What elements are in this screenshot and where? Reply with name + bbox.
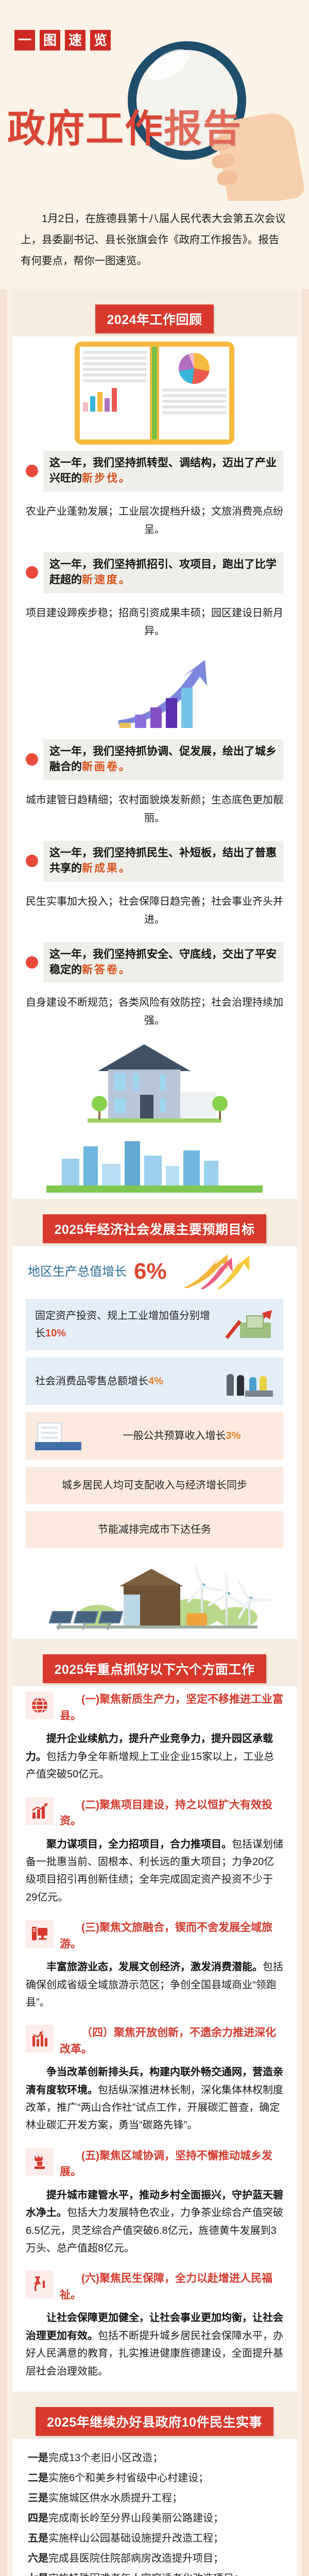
pin-icon [26,2270,54,2298]
target-row: 固定资产投资、规上工业增加值分别增长10% [26,1299,283,1350]
review-highlight-emphasis: 新步伐。 [82,472,131,484]
book-illustration [12,336,297,448]
list-item: 五是实施梓山公园基础设施提升改造工程； [28,2529,281,2549]
key-task-title: (五)聚焦区域协调，坚持不懈推动城乡发展。 [60,2148,283,2180]
review-detail: 农业产业蓬勃发展；工业层次提档升级；文旅消费亮点纷呈。 [12,492,297,549]
key-task-body: 聚力谋项目，全力招项目，合力推项目。包括谋划储备一批惠当前、固根本、利长远的重大… [26,1829,283,1914]
hero-title-glass: 报告 [164,107,242,150]
list-item: 三是实施城区供水水质提升工程； [28,2488,281,2509]
review-highlight: 这一年，我们坚持抓招引、攻项目，跑出了比学赶超的新速度。 [43,552,283,593]
livelihood-no: 三是 [28,2493,48,2504]
review-highlight-emphasis: 新速度。 [82,574,131,586]
shoppers-icon [225,1366,274,1397]
bullet-dot-icon [26,956,38,969]
growth-arrow-illustration [12,651,297,736]
review-item: 这一年，我们坚持抓民生、补短板，结出了普惠共享的新成果。 [12,838,297,882]
livelihood-no: 一是 [28,2452,48,2464]
key-task: （四）聚焦开放创新，不遗余力推进深化改革。 争当改革创新排头兵，构建内联外畅交通… [12,2020,297,2143]
livelihood-no: 二是 [28,2472,48,2484]
chess-piece-icon [26,2148,54,2176]
livelihood-text: 实施城区供水水质提升工程； [48,2493,182,2504]
key-task-body: 提升企业续航力，提升产业竞争力，提升园区承载力。包括力争全年新增规上工业企业15… [26,1724,283,1790]
key-task-body-bold: 丰富旅游业态，发展文创经济，激发消费潜能。 [46,1961,263,1973]
section-title-key-tasks: 2025年重点抓好以下六个方面工作 [43,1654,266,1683]
badge-4: 览 [90,30,111,50]
target-row-number: 3% [226,1430,241,1442]
bullet-dot-icon [26,753,38,766]
section-title-review: 2024年工作回顾 [95,304,213,333]
target-gdp: 地区生产总值增长 6% [12,1246,297,1292]
key-task-title: (六)聚焦民生保障，全力以赴增进人民福祉。 [60,2270,283,2303]
money-growth-icon [225,1309,274,1340]
hero-title-plain: 政府工作 [7,107,164,150]
livelihood-text: 完成南长岭至分界山段美丽公路建设； [48,2513,224,2524]
livelihood-text: 实施6个和美乡村省级中心村建设； [48,2472,209,2484]
key-task-body: 丰富旅游业态，发展文创经济，激发消费潜能。包括确保创成省级全域旅游示范区；争创全… [26,1952,283,2019]
bar-chart-icon [26,1797,54,1825]
target-gdp-label: 地区生产总值增长 [28,1264,127,1280]
key-task-body: 让社会保障更加健全，让社会事业更加均衡，让社会治理更加有效。包括不断提升城乡居民… [26,2303,283,2387]
review-highlight-emphasis: 新画卷。 [82,761,131,773]
review-item: 这一年，我们坚持抓转型、调结构，迈出了产业兴旺的新步伐。 [12,448,297,492]
resume-icon [35,1420,84,1451]
computer-icon [26,1920,54,1947]
key-task-body: 争当改革创新排头兵，构建内联外畅交通网，营造亲清有度软环境。包括纵深推进林长制，… [26,2057,283,2142]
review-highlight-emphasis: 新答卷。 [82,964,131,976]
section-header-livelihood: 2025年继续办好县政府10件民生实事 [0,2392,309,2439]
livelihood-no: 六是 [28,2553,48,2564]
infographic-page: 一 图 速 览 政府工作报告 1月2日，在旌德县第十八届人民代表大会第五次会议上… [0,0,309,2576]
hero-banner: 一 图 速 览 政府工作报告 [0,0,309,201]
target-row: 一般公共预算收入增长3% [26,1412,283,1460]
globe-icon [26,1691,54,1719]
key-task: (一)聚焦新质生产力，坚定不移推进工业富县。 提升企业续航力，提升产业竞争力，提… [12,1686,297,1791]
key-task: (三)聚焦文旅融合，锲而不舍发展全域旅游。 丰富旅游业态，发展文创经济，激发消费… [12,1914,297,2020]
key-task-title: (三)聚焦文旅融合，锲而不舍发展全域旅游。 [60,1920,283,1952]
section-header-review: 2024年工作回顾 [0,289,309,336]
targets-section: 地区生产总值增长 6% 固定资产投资、规上工业增加值分别增长10% [12,1246,297,1639]
review-item: 这一年，我们坚持抓安全、守底线，交出了平安稳定的新答卷。 [12,939,297,983]
key-task-body: 提升城市建管水平，推动乡村全面振兴，守护蓝天碧水净土。包括大力发展特色农业，力争… [26,2180,283,2265]
bullet-dot-icon [26,465,38,477]
city-illustration [12,1126,297,1196]
bullet-dot-icon [26,566,38,579]
review-detail: 项目建设蹄疾步稳；招商引资成果丰硕；园区建设日新月异。 [12,593,297,651]
target-row: 城乡居民人均可支配收入与经济增长同步 [26,1467,283,1504]
target-row-text: 一般公共预算收入增长 [123,1430,226,1442]
review-highlight: 这一年，我们坚持抓安全、守底线，交出了平安稳定的新答卷。 [43,942,283,983]
target-gdp-value: 6% [134,1259,167,1284]
target-row: 节能减排完成市下达任务 [26,1511,283,1548]
livelihood-list: 一是完成13个老旧小区改造； 二是实施6个和美乡村省级中心村建设； 三是实施城区… [12,2439,297,2576]
list-item: 四是完成南长岭至分界山段美丽公路建设； [28,2509,281,2529]
key-task: (五)聚焦区域协调，坚持不懈推动城乡发展。 提升城市建管水平，推动乡村全面振兴，… [12,2143,297,2266]
target-row-text: 节能减排完成市下达任务 [98,1521,211,1538]
livelihood-section: 一是完成13个老旧小区改造； 二是实施6个和美乡村省级中心村建设； 三是实施城区… [12,2439,297,2576]
review-highlight: 这一年，我们坚持抓民生、补短板，结出了普惠共享的新成果。 [43,841,283,882]
review-detail: 城市建管日趋精细；农村面貌焕发新颜；生态底色更加靓丽。 [12,780,297,838]
section-header-key-tasks: 2025年重点抓好以下六个方面工作 [0,1639,309,1686]
key-task: (六)聚焦民生保障，全力以赴增进人民福祉。 让社会保障更加健全，让社会事业更加均… [12,2265,297,2388]
house-illustration [12,1040,297,1126]
target-row-number: 4% [148,1376,163,1387]
livelihood-text: 实施梓山公园基础设施提升改造工程； [48,2533,224,2544]
livelihood-text: 完成县医院住院部病房改造提升项目； [48,2553,224,2564]
growth-bars-icon [26,2025,54,2053]
key-tasks-section: (一)聚焦新质生产力，坚定不移推进工业富县。 提升企业续航力，提升产业竞争力，提… [12,1686,297,2392]
review-detail: 自身建设不断规范；各类风险有效防控；社会治理持续加强。 [12,982,297,1040]
review-item: 这一年，我们坚持抓招引、攻项目，跑出了比学赶超的新速度。 [12,549,297,593]
list-item: 一是完成13个老旧小区改造； [28,2448,281,2468]
target-row-text: 社会消费品零售总额增长 [35,1376,148,1387]
livelihood-no: 四是 [28,2513,48,2524]
key-task-body-rest: 包括力争全年新增规上工业企业15家以上，工业总产值突破50亿元。 [26,1751,274,1780]
intro-paragraph: 1月2日，在旌德县第十八届人民代表大会第五次会议上，县委副书记、县长张旗会作《政… [0,201,309,289]
list-item: 六是完成县医院住院部病房改造提升项目； [28,2549,281,2569]
section-title-livelihood: 2025年继续办好县政府10件民生实事 [36,2407,273,2436]
key-task-title: (二)聚焦项目建设，持之以恒扩大有效投资。 [60,1797,283,1829]
badge-row: 一 图 速 览 [14,30,111,50]
review-highlight-emphasis: 新成果。 [82,862,131,874]
key-task-title: (一)聚焦新质生产力，坚定不移推进工业富县。 [60,1691,283,1724]
review-section: 这一年，我们坚持抓转型、调结构，迈出了产业兴旺的新步伐。 农业产业蓬勃发展；工业… [12,336,297,1199]
livelihood-no: 五是 [28,2533,48,2544]
badge-3: 速 [65,30,85,50]
key-task-body-bold: 聚力谋项目，全力招项目，合力推项目。 [46,1839,232,1850]
bullet-dot-icon [26,855,38,867]
eco-illustration [12,1555,297,1636]
badge-1: 一 [14,30,35,50]
section-header-targets: 2025年经济社会发展主要预期目标 [0,1199,309,1246]
livelihood-no: 七是 [28,2573,48,2576]
target-row-text: 城乡居民人均可支配收入与经济增长同步 [62,1477,247,1494]
list-item: 二是实施6个和美乡村省级中心村建设； [28,2468,281,2488]
review-highlight: 这一年，我们坚持抓协调、促发展，绘出了城乡融合的新画卷。 [43,739,283,780]
page-title: 政府工作报告 [7,98,242,153]
target-row: 社会消费品零售总额增长4% [26,1358,283,1405]
list-item: 七是实施特殊困难老年人家庭适老化改造项目； [28,2569,281,2576]
livelihood-text: 实施特殊困难老年人家庭适老化改造项目； [48,2573,244,2576]
key-task-title: （四）聚焦开放创新，不遗余力推进深化改革。 [60,2025,283,2057]
review-detail: 民生实事加大投入；社会保障日趋完善；社会事业齐头并进。 [12,882,297,939]
livelihood-text: 完成13个老旧小区改造； [48,2452,163,2464]
key-task: (二)聚焦项目建设，持之以恒扩大有效投资。 聚力谋项目，全力招项目，合力推项目。… [12,1792,297,1915]
badge-2: 图 [40,30,60,50]
arrows-icon [174,1253,281,1290]
section-title-targets: 2025年经济社会发展主要预期目标 [43,1214,266,1243]
review-highlight: 这一年，我们坚持抓转型、调结构，迈出了产业兴旺的新步伐。 [43,451,283,492]
target-row-number: 10% [45,1328,66,1339]
review-item: 这一年，我们坚持抓协调、促发展，绘出了城乡融合的新画卷。 [12,736,297,780]
